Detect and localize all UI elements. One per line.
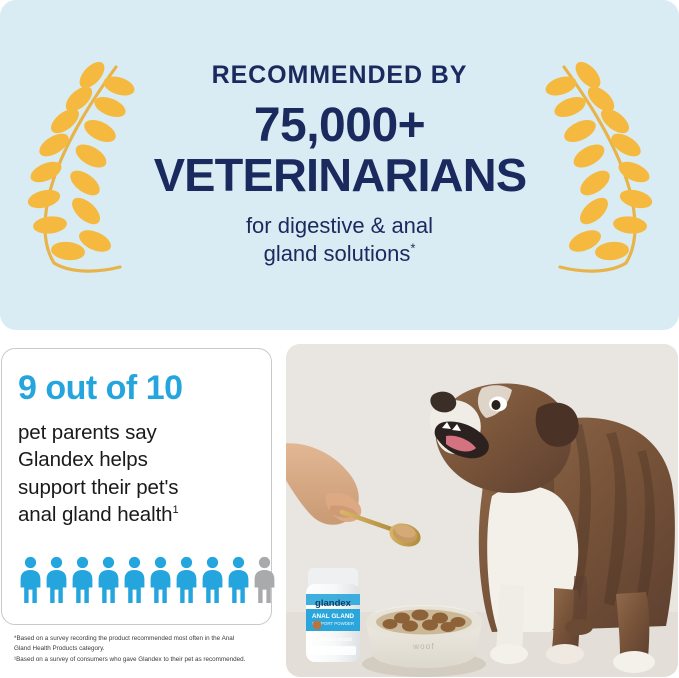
banner-kicker: RECOMMENDED BY	[144, 62, 536, 88]
bowl-label: woof	[412, 642, 435, 651]
banner-subline-line-2: gland solutions	[264, 241, 411, 266]
person-icon-filled	[201, 556, 224, 604]
laurel-wreath-icon-right	[540, 55, 660, 275]
stat-body-line-3: support their pet's	[18, 476, 178, 499]
stat-headline: 9 out of 10	[18, 371, 255, 405]
bottle-brand: glandex	[315, 598, 352, 609]
banner-count: 75,000+	[144, 99, 536, 153]
banner-subline-marker: *	[410, 241, 415, 256]
person-icon-filled	[123, 556, 146, 604]
banner-text-block: RECOMMENDED BY 75,000+ VETERINARIANS for…	[140, 62, 540, 267]
person-icon-filled	[97, 556, 120, 604]
photo-illustration: glandex ANAL GLAND SUPPORT POWDER beat t…	[286, 344, 678, 677]
banner-audience: VETERINARIANS	[140, 152, 540, 198]
food-bowl: woof	[362, 605, 486, 677]
bottle-line-1: ANAL GLAND	[312, 613, 355, 620]
banner-subline-line-1: for digestive & anal	[246, 213, 433, 238]
veterinarian-recommendation-banner: RECOMMENDED BY 75,000+ VETERINARIANS for…	[0, 0, 679, 330]
footnote-line-2: Gland Health Products category.	[14, 644, 276, 654]
stat-body: pet parents say Glandex helps support th…	[18, 419, 255, 528]
infographic-root: RECOMMENDED BY 75,000+ VETERINARIANS for…	[0, 0, 679, 678]
person-icon-empty	[253, 556, 276, 604]
person-icon-filled	[227, 556, 250, 604]
footnote-line-1: *Based on a survey recording the product…	[14, 634, 276, 644]
banner-subline: for digestive & anal gland solutions*	[144, 212, 536, 267]
footnotes: *Based on a survey recording the product…	[14, 634, 276, 665]
person-icon-filled	[45, 556, 68, 604]
stat-body-line-1: pet parents say	[18, 421, 157, 444]
person-icon-filled	[149, 556, 172, 604]
stat-body-line-2: Glandex helps	[18, 448, 148, 471]
bottle-tagline: beat the scoot	[314, 637, 352, 643]
person-icon-filled	[19, 556, 42, 604]
person-icon-filled	[175, 556, 198, 604]
pet-parent-stat-card: 9 out of 10 pet parents say Glandex help…	[1, 348, 272, 625]
product-lifestyle-photo: glandex ANAL GLAND SUPPORT POWDER beat t…	[286, 344, 678, 677]
footnote-line-3: ¹Based on a survey of consumers who gave…	[14, 655, 276, 665]
stat-body-marker: 1	[172, 504, 178, 516]
person-icon-filled	[71, 556, 94, 604]
people-pictogram	[19, 556, 276, 604]
glandex-bottle: glandex ANAL GLAND SUPPORT POWDER beat t…	[306, 568, 360, 662]
stat-body-line-4: anal gland health	[18, 503, 172, 526]
laurel-wreath-icon-left	[20, 55, 140, 275]
